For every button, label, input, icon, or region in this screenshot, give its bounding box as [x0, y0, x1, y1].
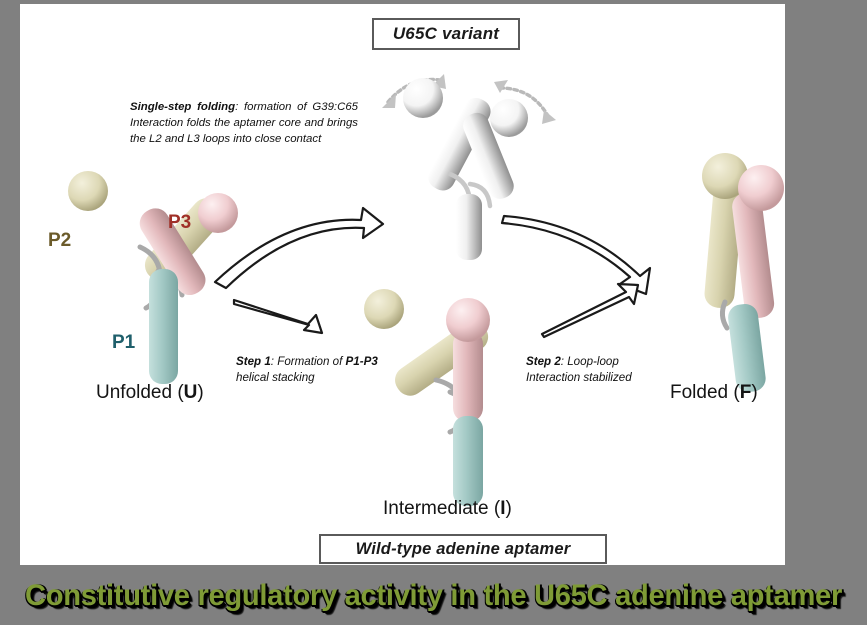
helix-label-p3: P3	[168, 212, 191, 234]
state-unfolded-suffix: )	[197, 382, 203, 403]
annotation-step1-mid: : Formation of	[271, 355, 346, 368]
helix-p1-intermediate	[453, 416, 483, 506]
structure-folded	[675, 144, 785, 394]
annotation-single-step-lead: Single-step folding	[130, 101, 235, 113]
state-intermediate-prefix: Intermediate (	[383, 498, 500, 519]
helix-p1-unfolded	[149, 269, 178, 384]
label-box-wild-type-aptamer: Wild-type adenine aptamer	[319, 534, 607, 564]
helix-label-p1: P1	[112, 332, 135, 354]
label-box-u65c-variant: U65C variant	[372, 18, 520, 50]
helix-p3-folded	[731, 165, 784, 320]
slide-panel: U65C variant Wild-type adenine aptamer S…	[20, 4, 785, 565]
structure-unfolded	[50, 159, 265, 404]
structure-u65c-variant	[378, 66, 568, 261]
annotation-step-2: Step 2: Loop-loop Interaction stabilized	[526, 354, 666, 386]
helix-label-p2: P2	[48, 230, 71, 252]
state-unfolded-prefix: Unfolded (	[96, 382, 184, 403]
annotation-step1-p1p3: P1-P3	[346, 355, 378, 368]
annotation-step1-lead: Step 1	[236, 355, 271, 368]
annotation-step2-lead: Step 2	[526, 355, 561, 368]
state-folded-symbol: F	[740, 382, 752, 403]
motion-arrowhead-right-icon	[494, 80, 508, 93]
state-caption-intermediate: Intermediate (I)	[383, 498, 512, 520]
state-intermediate-suffix: )	[506, 498, 512, 519]
state-caption-unfolded: Unfolded (U)	[96, 382, 204, 404]
arrow-intermediate-to-folded	[542, 284, 638, 337]
state-folded-prefix: Folded (	[670, 382, 740, 403]
state-unfolded-symbol: U	[184, 382, 198, 403]
figure-caption: Constitutive regulatory activity in the …	[13, 566, 854, 625]
state-folded-suffix: )	[751, 382, 757, 403]
annotation-step1-tail: helical stacking	[236, 371, 315, 384]
structure-intermediate	[350, 276, 525, 511]
figure-root: U65C variant Wild-type adenine aptamer S…	[0, 0, 867, 625]
annotation-step-1: Step 1: Formation of P1-P3 helical stack…	[236, 354, 386, 386]
state-caption-folded: Folded (F)	[670, 382, 758, 404]
motion-arrowhead-right2-icon	[542, 110, 556, 124]
helix-stem-u65c	[456, 194, 482, 260]
annotation-single-step-folding: Single-step folding: formation of G39:C6…	[130, 99, 358, 148]
